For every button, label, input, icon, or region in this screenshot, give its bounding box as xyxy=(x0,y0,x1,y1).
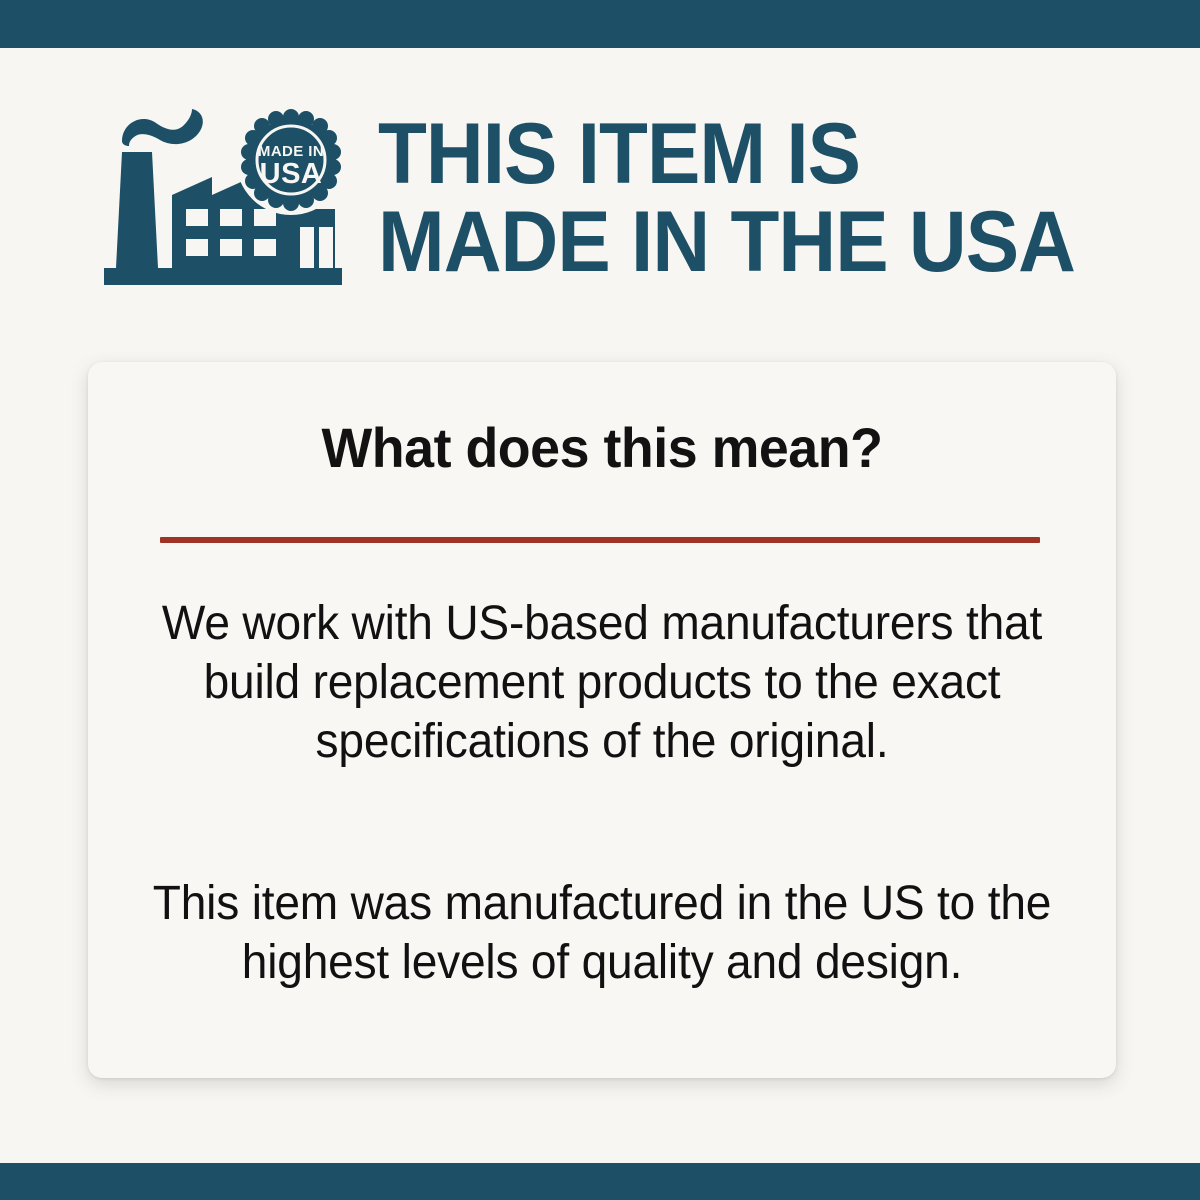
card-divider xyxy=(160,537,1040,543)
card-paragraph-2: This item was manufactured in the US to … xyxy=(122,874,1082,992)
card-paragraph-2-text: This item was manufactured in the US to … xyxy=(122,874,1082,992)
factory-icon: MADE IN USA xyxy=(100,105,350,290)
headline-line-2: MADE IN THE USA xyxy=(378,198,1122,286)
badge-line2-text: USA xyxy=(260,158,323,190)
headline-line-1: THIS ITEM IS xyxy=(378,110,1122,198)
info-card: What does this mean? We work with US-bas… xyxy=(88,362,1116,1078)
factory-logo-mark: MADE IN USA xyxy=(100,105,350,290)
made-in-usa-seal-icon: MADE IN USA xyxy=(236,105,346,215)
header: MADE IN USA THIS ITEM IS MADE IN THE USA xyxy=(0,48,1200,348)
bottom-brand-bar xyxy=(0,1163,1200,1200)
card-paragraph-1: We work with US-based manufacturers that… xyxy=(122,594,1082,771)
top-brand-bar xyxy=(0,0,1200,48)
page-title: THIS ITEM IS MADE IN THE USA xyxy=(378,110,1122,286)
card-heading: What does this mean? xyxy=(109,419,1096,477)
card-paragraph-1-text: We work with US-based manufacturers that… xyxy=(122,594,1082,771)
